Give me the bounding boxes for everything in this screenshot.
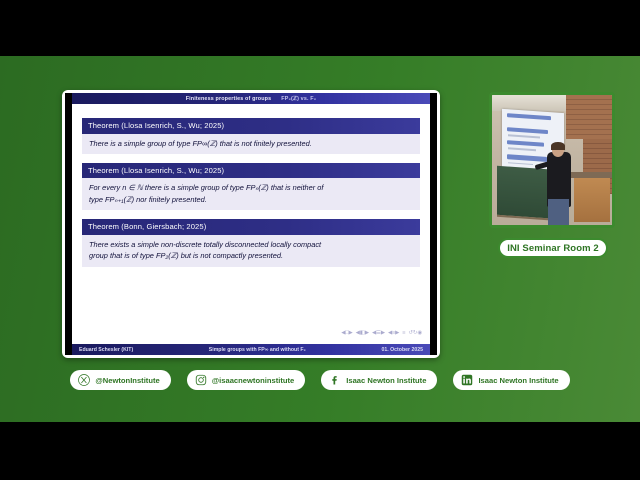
speaker-hair [551, 142, 564, 150]
x-twitter-icon [78, 374, 90, 386]
lectern [574, 178, 610, 222]
speaker-legs [548, 199, 568, 225]
nav-slide-icon[interactable]: ◀□▶ [341, 330, 352, 336]
presentation-slide-panel[interactable]: Finiteness properties of groups FP₂(ℤ) v… [62, 90, 440, 358]
theorem-statement-1: There is a simple group of type FP∞(ℤ) t… [82, 134, 420, 154]
social-pill-x[interactable]: @NewtonInstitute [70, 370, 170, 390]
social-handle-linkedin: Isaac Newton Institute [478, 376, 558, 385]
slide-footer-bar: Eduard Schesler (KIT) Simple groups with… [72, 344, 430, 355]
slide-header-subtitle: FP₂(ℤ) vs. F₂ [281, 96, 316, 102]
room-label-badge: INI Seminar Room 2 [498, 238, 608, 258]
facebook-icon [329, 374, 341, 386]
theorem-heading-1: Theorem (Llosa Isenrich, S., Wu; 2025) [82, 118, 420, 134]
social-handle-x: @NewtonInstitute [95, 376, 159, 385]
theorem-block-2: Theorem (Llosa Isenrich, S., Wu; 2025) F… [82, 163, 420, 210]
slide-footer-author: Eduard Schesler (KIT) [79, 347, 133, 353]
social-handle-facebook: Isaac Newton Institute [346, 376, 426, 385]
letterbox-bottom [0, 422, 640, 480]
theorem-statement-3-line1: There exists a simple non-discrete total… [89, 239, 413, 250]
theorem-block-3: Theorem (Bonn, Giersbach; 2025) There ex… [82, 219, 420, 266]
letterbox-top [0, 0, 640, 56]
slide-content: Finiteness properties of groups FP₂(ℤ) v… [65, 93, 437, 355]
instagram-icon [195, 374, 207, 386]
social-pill-linkedin[interactable]: Isaac Newton Institute [453, 370, 569, 390]
nav-section-icon[interactable]: ◀≡▶ [388, 330, 399, 336]
nav-back-forward-icon[interactable]: ↺↻◉ [408, 330, 422, 336]
theorem-statement-2-line1: For every n ∈ ℕ there is a simple group … [89, 182, 413, 193]
beamer-navigation-symbols[interactable]: ◀□▶ ◀◧▶ ◀☰▶ ◀≡▶ ≡ ↺↻◉ [341, 330, 422, 336]
brick-wall-upper [566, 95, 612, 139]
theorem-statement-3-line2: group that is of type FP₂(ℤ) but is not … [89, 250, 413, 261]
video-stage: Finiteness properties of groups FP₂(ℤ) v… [0, 0, 640, 480]
social-media-bar: @NewtonInstitute @isaacnewtoninstitute I… [0, 368, 640, 392]
slide-footer-title: Simple groups with FP∞ and without F₂ [133, 347, 381, 353]
nav-frame-icon[interactable]: ◀◧▶ [356, 330, 369, 336]
social-pill-instagram[interactable]: @isaacnewtoninstitute [187, 370, 306, 390]
room-label-text: INI Seminar Room 2 [507, 243, 599, 254]
slide-header-title: Finiteness properties of groups [186, 96, 272, 102]
slide-body: Theorem (Llosa Isenrich, S., Wu; 2025) T… [72, 104, 430, 338]
podium-surface [569, 172, 612, 179]
speaker-video-panel[interactable] [489, 92, 615, 228]
theorem-heading-2: Theorem (Llosa Isenrich, S., Wu; 2025) [82, 163, 420, 179]
video-scene [492, 95, 612, 225]
nav-presentation-icon[interactable]: ≡ [402, 330, 405, 336]
slide-header-bar: Finiteness properties of groups FP₂(ℤ) v… [72, 93, 430, 104]
nav-subsection-icon[interactable]: ◀☰▶ [372, 330, 385, 336]
social-pill-facebook[interactable]: Isaac Newton Institute [321, 370, 437, 390]
theorem-statement-3: There exists a simple non-discrete total… [82, 235, 420, 267]
theorem-statement-2: For every n ∈ ℕ there is a simple group … [82, 178, 420, 210]
social-handle-instagram: @isaacnewtoninstitute [212, 376, 295, 385]
theorem-heading-3: Theorem (Bonn, Giersbach; 2025) [82, 219, 420, 235]
slide-footer-date: 01. October 2025 [381, 347, 423, 353]
theorem-statement-2-line2: type FPₙ₊₁(ℤ) nor finitely presented. [89, 194, 413, 205]
linkedin-icon [461, 374, 473, 386]
theorem-block-1: Theorem (Llosa Isenrich, S., Wu; 2025) T… [82, 118, 420, 154]
